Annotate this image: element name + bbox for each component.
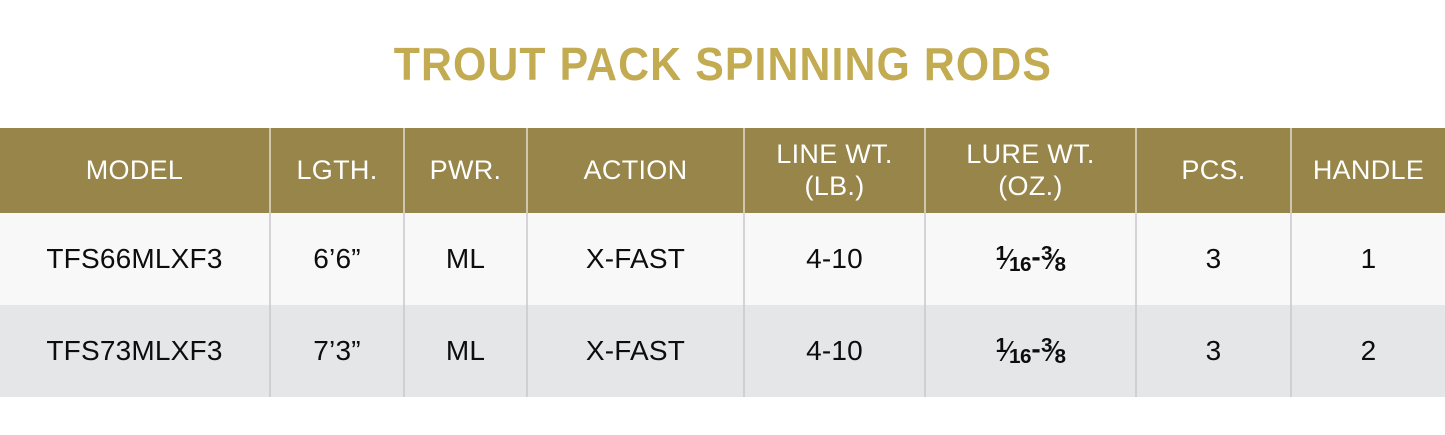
fraction-from-denominator: 16: [1009, 253, 1031, 276]
fraction-to: 3⁄8: [1041, 334, 1066, 369]
fraction-from: 1⁄16: [996, 242, 1032, 277]
column-header-power: PWR.: [404, 128, 527, 213]
cell-length: 6’6”: [270, 213, 404, 305]
table-header-row: MODEL LGTH. PWR. ACTION LINE WT. (LB.) L…: [0, 128, 1445, 213]
table-row: TFS66MLXF3 6’6” ML X-FAST 4-10 1⁄16-3⁄8 …: [0, 213, 1445, 305]
fraction-separator: -: [1031, 241, 1040, 272]
cell-handle: 1: [1291, 213, 1445, 305]
column-header-length-line1: LGTH.: [271, 155, 403, 186]
fraction-from-denominator: 16: [1009, 345, 1031, 368]
fraction-to: 3⁄8: [1041, 242, 1066, 277]
fraction-to-denominator: 8: [1054, 345, 1065, 368]
cell-action: X-FAST: [527, 305, 744, 397]
column-header-pieces: PCS.: [1136, 128, 1291, 213]
cell-length: 7’3”: [270, 305, 404, 397]
rod-spec-table: MODEL LGTH. PWR. ACTION LINE WT. (LB.) L…: [0, 128, 1445, 397]
cell-model: TFS66MLXF3: [0, 213, 270, 305]
column-header-lure-weight-line2: (OZ.): [926, 171, 1135, 202]
column-header-model: MODEL: [0, 128, 270, 213]
column-header-handle-line1: HANDLE: [1292, 155, 1445, 186]
table-header: MODEL LGTH. PWR. ACTION LINE WT. (LB.) L…: [0, 128, 1445, 213]
column-header-pieces-line1: PCS.: [1137, 155, 1290, 186]
lure-weight-range: 1⁄16-3⁄8: [996, 333, 1066, 369]
column-header-line-weight-line2: (LB.): [745, 171, 924, 202]
column-header-length: LGTH.: [270, 128, 404, 213]
cell-power: ML: [404, 305, 527, 397]
fraction-from: 1⁄16: [996, 334, 1032, 369]
column-header-line-weight-line1: LINE WT.: [745, 139, 924, 170]
table-body: TFS66MLXF3 6’6” ML X-FAST 4-10 1⁄16-3⁄8 …: [0, 213, 1445, 397]
cell-pieces: 3: [1136, 213, 1291, 305]
column-header-power-line1: PWR.: [405, 155, 526, 186]
cell-handle: 2: [1291, 305, 1445, 397]
column-header-action-line1: ACTION: [528, 155, 743, 186]
cell-pieces: 3: [1136, 305, 1291, 397]
cell-action: X-FAST: [527, 213, 744, 305]
cell-line-weight: 4-10: [744, 213, 925, 305]
column-header-lure-weight-line1: LURE WT.: [926, 139, 1135, 170]
cell-lure-weight: 1⁄16-3⁄8: [925, 305, 1136, 397]
cell-line-weight: 4-10: [744, 305, 925, 397]
spec-sheet-page: TROUT PACK SPINNING RODS MODEL LGTH. PWR: [0, 0, 1445, 435]
cell-power: ML: [404, 213, 527, 305]
page-title-container: TROUT PACK SPINNING RODS: [0, 0, 1445, 128]
fraction-separator: -: [1031, 333, 1040, 364]
cell-lure-weight: 1⁄16-3⁄8: [925, 213, 1136, 305]
lure-weight-range: 1⁄16-3⁄8: [996, 241, 1066, 277]
page-title: TROUT PACK SPINNING RODS: [393, 41, 1051, 87]
fraction-to-denominator: 8: [1054, 253, 1065, 276]
column-header-action: ACTION: [527, 128, 744, 213]
cell-model: TFS73MLXF3: [0, 305, 270, 397]
column-header-handle: HANDLE: [1291, 128, 1445, 213]
table-row: TFS73MLXF3 7’3” ML X-FAST 4-10 1⁄16-3⁄8 …: [0, 305, 1445, 397]
column-header-line-weight: LINE WT. (LB.): [744, 128, 925, 213]
column-header-model-line1: MODEL: [0, 155, 269, 186]
column-header-lure-weight: LURE WT. (OZ.): [925, 128, 1136, 213]
